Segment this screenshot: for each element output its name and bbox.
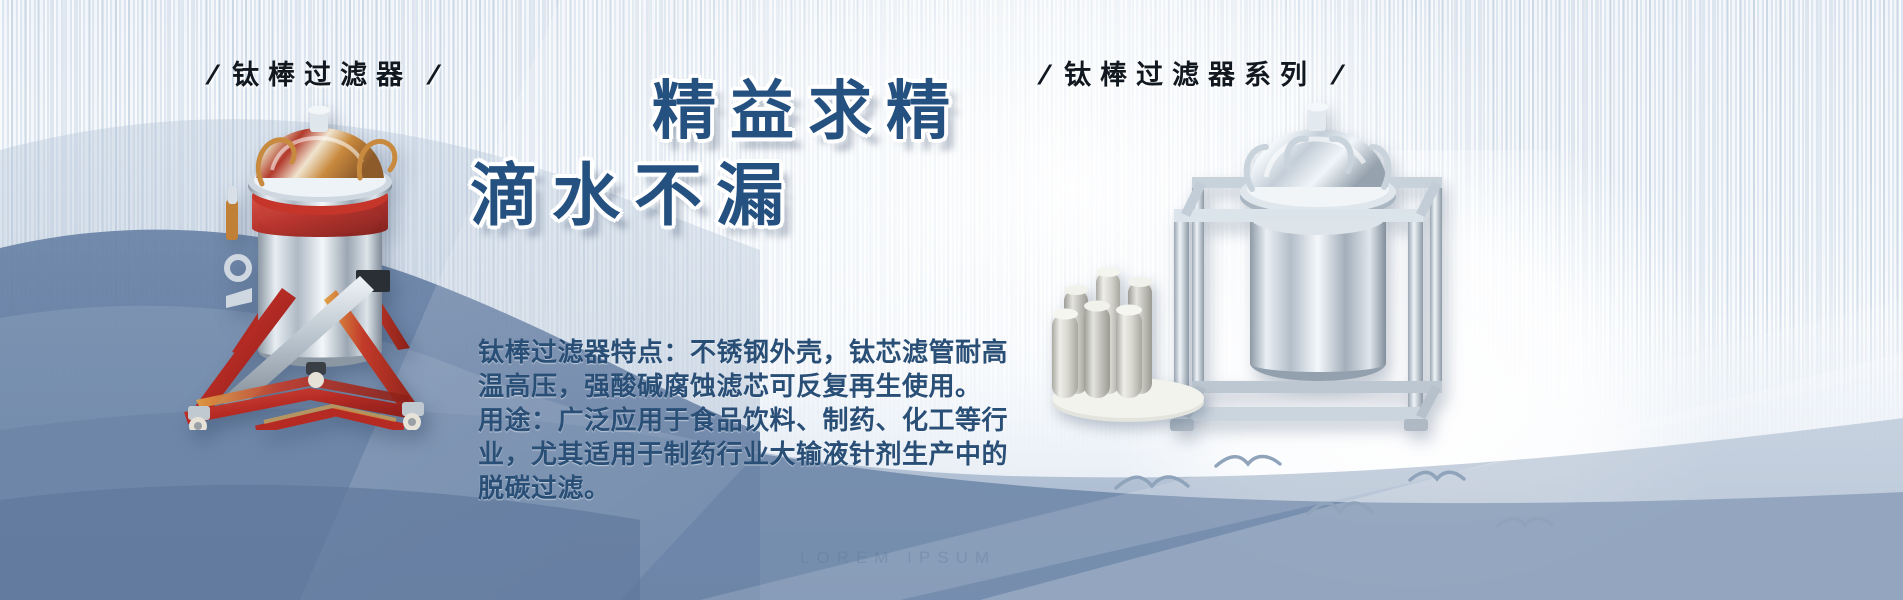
decorative-birds <box>1080 430 1620 560</box>
product-image-cartridges <box>1020 250 1240 430</box>
bird-icon <box>1410 472 1464 480</box>
bird-icon <box>1216 457 1280 467</box>
caption-left: / 钛棒过滤器 / <box>208 53 436 92</box>
caption-right: / 钛棒过滤器系列 / <box>1040 53 1340 92</box>
bird-icon <box>1498 518 1552 526</box>
caption-left-label: 钛棒过滤器 <box>232 60 412 90</box>
body-line-3: 用途：广泛应用于食品饮料、制药、化工等行 <box>478 404 998 438</box>
body-line-2: 温高压，强酸碱腐蚀滤芯可反复再生使用。 <box>478 370 998 404</box>
bird-icon <box>1116 477 1188 488</box>
bird-icon <box>1308 503 1372 514</box>
body-line-4: 业，尤其适用于制药行业大输液针剂生产中的 <box>478 438 998 472</box>
body-line-5: 脱碳过滤。 <box>478 472 998 506</box>
watermark-text: LOREM IPSUM <box>800 548 996 568</box>
product-image-left <box>160 100 470 420</box>
headline: 精益求精 滴水不漏 <box>470 78 964 231</box>
headline-line-2: 滴水不漏 <box>470 161 964 232</box>
body-line-1: 钛棒过滤器特点：不锈钢外壳，钛芯滤管耐高 <box>478 336 998 370</box>
headline-line-1: 精益求精 <box>470 78 964 145</box>
product-banner: / 钛棒过滤器 / / 钛棒过滤器系列 / 精益求精 滴水不漏 钛棒过滤器特点：… <box>0 0 1903 600</box>
body-copy: 钛棒过滤器特点：不锈钢外壳，钛芯滤管耐高 温高压，强酸碱腐蚀滤芯可反复再生使用。… <box>478 336 998 506</box>
caption-right-label: 钛棒过滤器系列 <box>1064 60 1316 90</box>
